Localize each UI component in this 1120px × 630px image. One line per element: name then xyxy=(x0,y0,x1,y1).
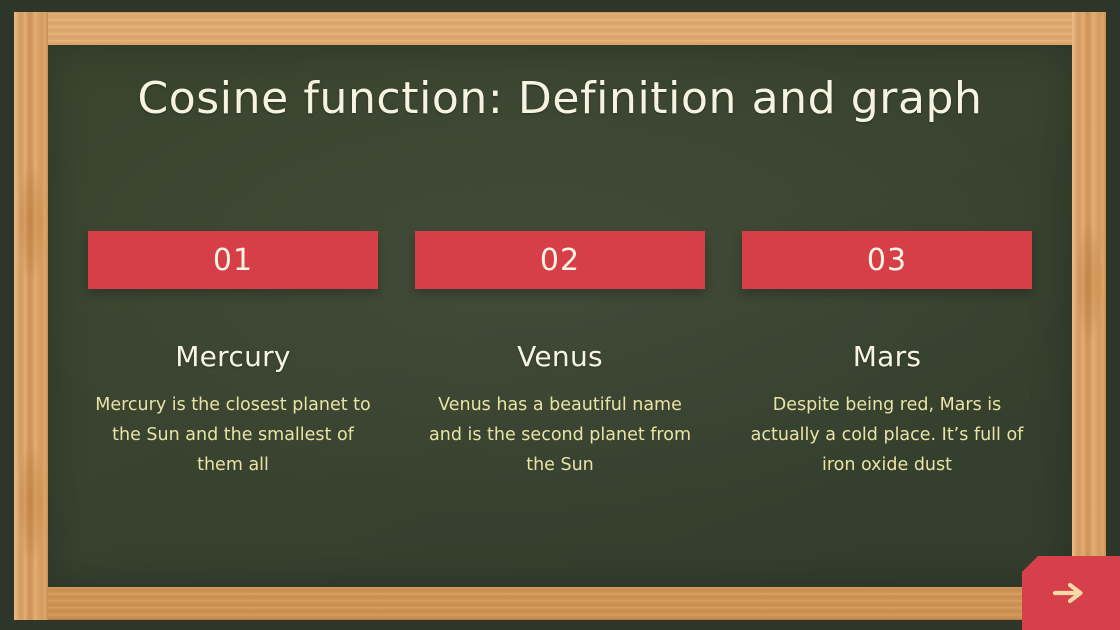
column-body-text: Venus has a beautiful name and is the se… xyxy=(415,390,705,480)
frame-right-stile xyxy=(1072,12,1106,620)
number-badge[interactable]: 02 xyxy=(415,231,705,289)
page-title: Cosine function: Definition and graph xyxy=(48,73,1072,124)
chalkboard: Cosine function: Definition and graph 01… xyxy=(48,45,1072,587)
next-slide-button[interactable] xyxy=(1022,556,1120,630)
columns-container: 01 Mercury Mercury is the closest planet… xyxy=(88,231,1032,480)
presentation-slide: Cosine function: Definition and graph 01… xyxy=(0,0,1120,630)
column-body-text: Mercury is the closest planet to the Sun… xyxy=(88,390,378,480)
number-badge[interactable]: 03 xyxy=(742,231,1032,289)
column-03: 03 Mars Despite being red, Mars is actua… xyxy=(742,231,1032,480)
wood-grain-knot xyxy=(18,162,44,282)
column-heading: Mars xyxy=(742,340,1032,373)
column-heading: Mercury xyxy=(88,340,378,373)
frame-left-stile xyxy=(14,12,48,620)
wood-grain-knot xyxy=(1076,222,1102,342)
column-02: 02 Venus Venus has a beautiful name and … xyxy=(415,231,705,480)
wood-grain-knot xyxy=(18,442,44,562)
arrow-right-icon xyxy=(1051,579,1091,607)
column-body-text: Despite being red, Mars is actually a co… xyxy=(742,390,1032,480)
column-heading: Venus xyxy=(415,340,705,373)
column-01: 01 Mercury Mercury is the closest planet… xyxy=(88,231,378,480)
number-badge[interactable]: 01 xyxy=(88,231,378,289)
